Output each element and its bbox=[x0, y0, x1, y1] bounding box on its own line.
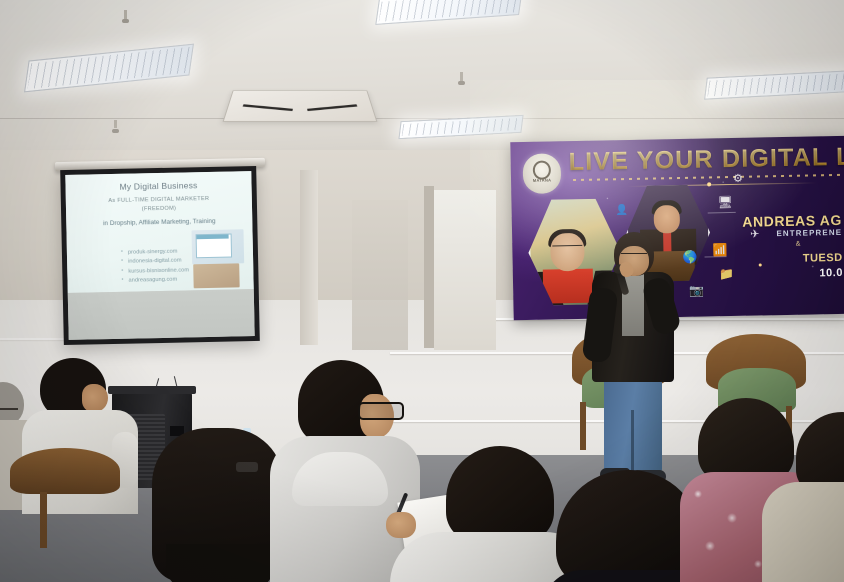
folder-icon: 📁 bbox=[719, 268, 734, 280]
slide-image-money bbox=[193, 263, 239, 288]
camera-icon: 📷 bbox=[689, 285, 704, 297]
slide-subtitle-3: in Dropship, Affiliate Marketing, Traini… bbox=[66, 217, 252, 228]
slide-subtitle-1: As FULL-TIME DIGITAL MARKETER bbox=[66, 195, 252, 205]
monitor-icon: 🖥 bbox=[717, 196, 732, 208]
attendee-long-hair-glasses-icon bbox=[236, 462, 258, 472]
screen-blank-area bbox=[68, 289, 255, 340]
ceiling-air-vent bbox=[223, 90, 378, 121]
banner-event-time: 10.0 bbox=[819, 267, 843, 279]
slide-title: My Digital Business bbox=[65, 179, 251, 193]
sprinkler-head bbox=[114, 120, 117, 128]
banner-speaker-name: ANDREAS AG bbox=[742, 212, 842, 230]
projector-screen: My Digital Business As FULL-TIME DIGITAL… bbox=[60, 166, 260, 345]
wall-column bbox=[300, 170, 318, 345]
banner-event-day: TUESD bbox=[803, 252, 843, 265]
wall-recess bbox=[352, 200, 408, 350]
seminar-room-photo: My Digital Business As FULL-TIME DIGITAL… bbox=[0, 0, 844, 582]
eyeglasses-icon bbox=[358, 402, 404, 420]
presenter bbox=[578, 232, 686, 490]
banner-speaker-role: ENTREPRENE bbox=[776, 228, 842, 238]
wifi-icon: 📶 bbox=[712, 244, 727, 256]
wall-light-strip bbox=[434, 190, 496, 350]
emblem-caption: MATANA bbox=[533, 177, 552, 182]
banner-headline: LIVE YOUR DIGITAL LI bbox=[568, 143, 844, 178]
send-icon: ✈ bbox=[750, 229, 759, 240]
wall-edge bbox=[424, 186, 434, 348]
gear-icon: ⚙ bbox=[733, 174, 743, 185]
chair bbox=[10, 448, 120, 548]
person-icon: 👤 bbox=[616, 206, 629, 216]
banner-ampersand: & bbox=[796, 241, 801, 248]
slide-subtitle-2: (FREEDOM) bbox=[66, 204, 252, 214]
organization-emblem-icon: MATANA bbox=[523, 153, 562, 194]
sprinkler-head bbox=[460, 72, 463, 84]
amp-shelf bbox=[108, 386, 196, 394]
presentation-slide: My Digital Business As FULL-TIME DIGITAL… bbox=[65, 171, 253, 293]
sprinkler-head bbox=[124, 10, 127, 22]
slide-image-laptop bbox=[191, 229, 244, 264]
attendee-hand bbox=[386, 512, 416, 538]
